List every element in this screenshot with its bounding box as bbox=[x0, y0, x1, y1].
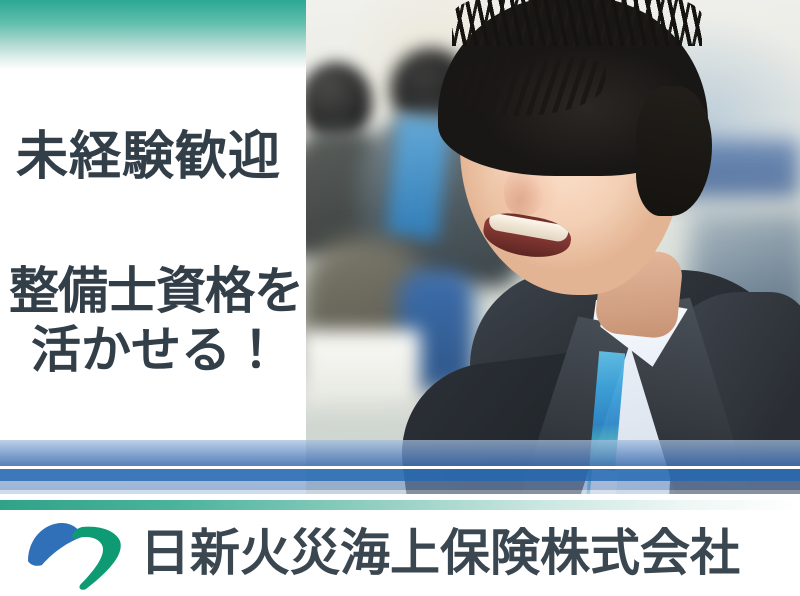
footer-logo-bar: 日新火災海上保険株式会社 bbox=[0, 510, 800, 596]
decor-band-teal-gradient bbox=[0, 500, 800, 510]
panel-top-teal-gradient bbox=[0, 0, 306, 70]
decor-band-blue-gradient bbox=[0, 440, 800, 466]
headline-secondary: 整備士資格を 活かせる！ bbox=[8, 262, 304, 380]
headline-secondary-line-1: 整備士資格を bbox=[8, 262, 304, 321]
company-name: 日新火災海上保険株式会社 bbox=[140, 528, 740, 578]
subject-hair-texture bbox=[452, 0, 702, 46]
nisshin-fire-marine-logo-icon bbox=[24, 515, 128, 591]
headline-primary: 未経験歓迎 bbox=[16, 130, 296, 185]
recruitment-banner: 未経験歓迎 整備士資格を 活かせる！ 日新火災海上保険株式会社 bbox=[0, 0, 800, 596]
decor-band-light-blue bbox=[0, 481, 800, 490]
headline-panel: 未経験歓迎 整備士資格を 活かせる！ bbox=[0, 0, 306, 510]
headline-secondary-line-2: 活かせる！ bbox=[8, 321, 304, 380]
decor-band-solid-blue bbox=[0, 469, 800, 481]
subject-hair-side bbox=[636, 86, 712, 216]
